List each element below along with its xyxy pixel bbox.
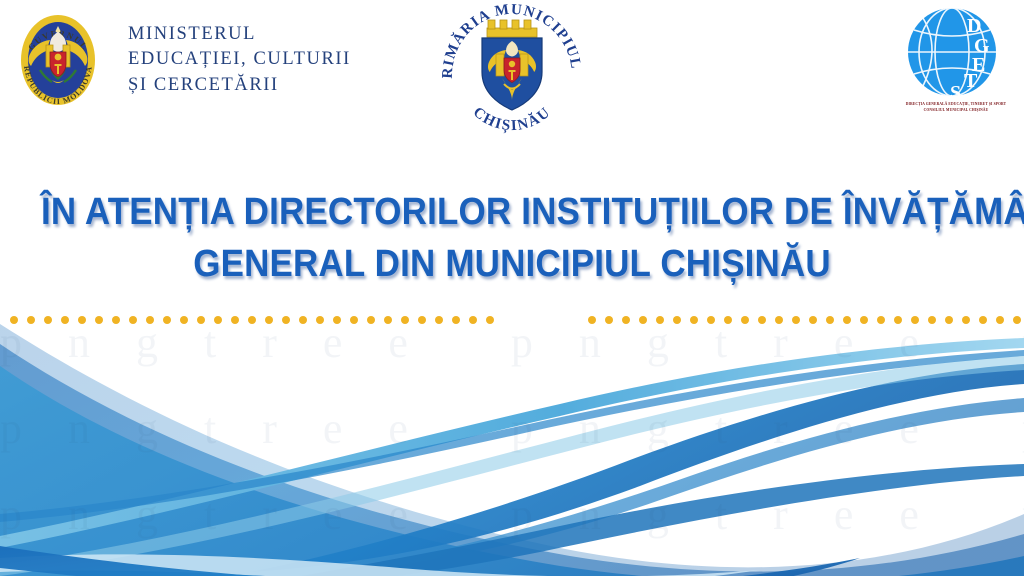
- slide-headline: ÎN ATENȚIA DIRECTORILOR INSTITUȚIILOR DE…: [41, 186, 983, 290]
- presentation-slide: GUVERNUL REPUBLICII MOLDOVA: [0, 0, 1024, 576]
- dgets-caption-line-2: CONSILIUL MUNICIPAL CHIȘINĂU: [893, 108, 1019, 114]
- ministry-line-3: ȘI CERCETĂRII: [128, 73, 351, 99]
- ministry-wordmark: MINISTERUL EDUCAȚIEI, CULTURII ȘI CERCET…: [128, 22, 351, 99]
- chisinau-city-hall-emblem-icon: PRIMĂRIA MUNICIPIULUI CHIȘINĂU: [432, 2, 592, 134]
- headline-line-1: ÎN ATENȚIA DIRECTORILOR INSTITUȚIILOR DE…: [41, 186, 983, 238]
- dgets-caption: DIRECȚIA GENERALĂ EDUCAȚIE, TINERET ȘI S…: [893, 102, 1019, 113]
- headline-line-2: GENERAL DIN MUNICIPIUL CHIȘINĂU: [41, 238, 983, 290]
- dgets-caption-line-1: DIRECȚIA GENERALĂ EDUCAȚIE, TINERET ȘI S…: [893, 102, 1019, 108]
- dgets-logo-block: D G E T S DIRECȚIA GENERALĂ EDUCAȚIE, TI…: [893, 4, 1019, 126]
- dgets-globe-logo-icon: D G E T S: [893, 4, 1019, 104]
- ministry-line-1: MINISTERUL: [128, 22, 351, 48]
- svg-text:T: T: [964, 70, 978, 92]
- ministry-logo-block: GUVERNUL REPUBLICII MOLDOVA: [6, 8, 351, 112]
- header-logo-band: GUVERNUL REPUBLICII MOLDOVA: [0, 0, 1024, 140]
- ministry-line-2: EDUCAȚIEI, CULTURII: [128, 47, 351, 73]
- wave-graphic: [0, 300, 1024, 576]
- moldova-government-seal-icon: GUVERNUL REPUBLICII MOLDOVA: [6, 8, 110, 112]
- svg-text:D: D: [967, 15, 981, 37]
- blue-wave-decoration: [0, 300, 1024, 576]
- primaria-logo-block: PRIMĂRIA MUNICIPIULUI CHIȘINĂU: [432, 2, 592, 134]
- svg-text:S: S: [950, 82, 961, 104]
